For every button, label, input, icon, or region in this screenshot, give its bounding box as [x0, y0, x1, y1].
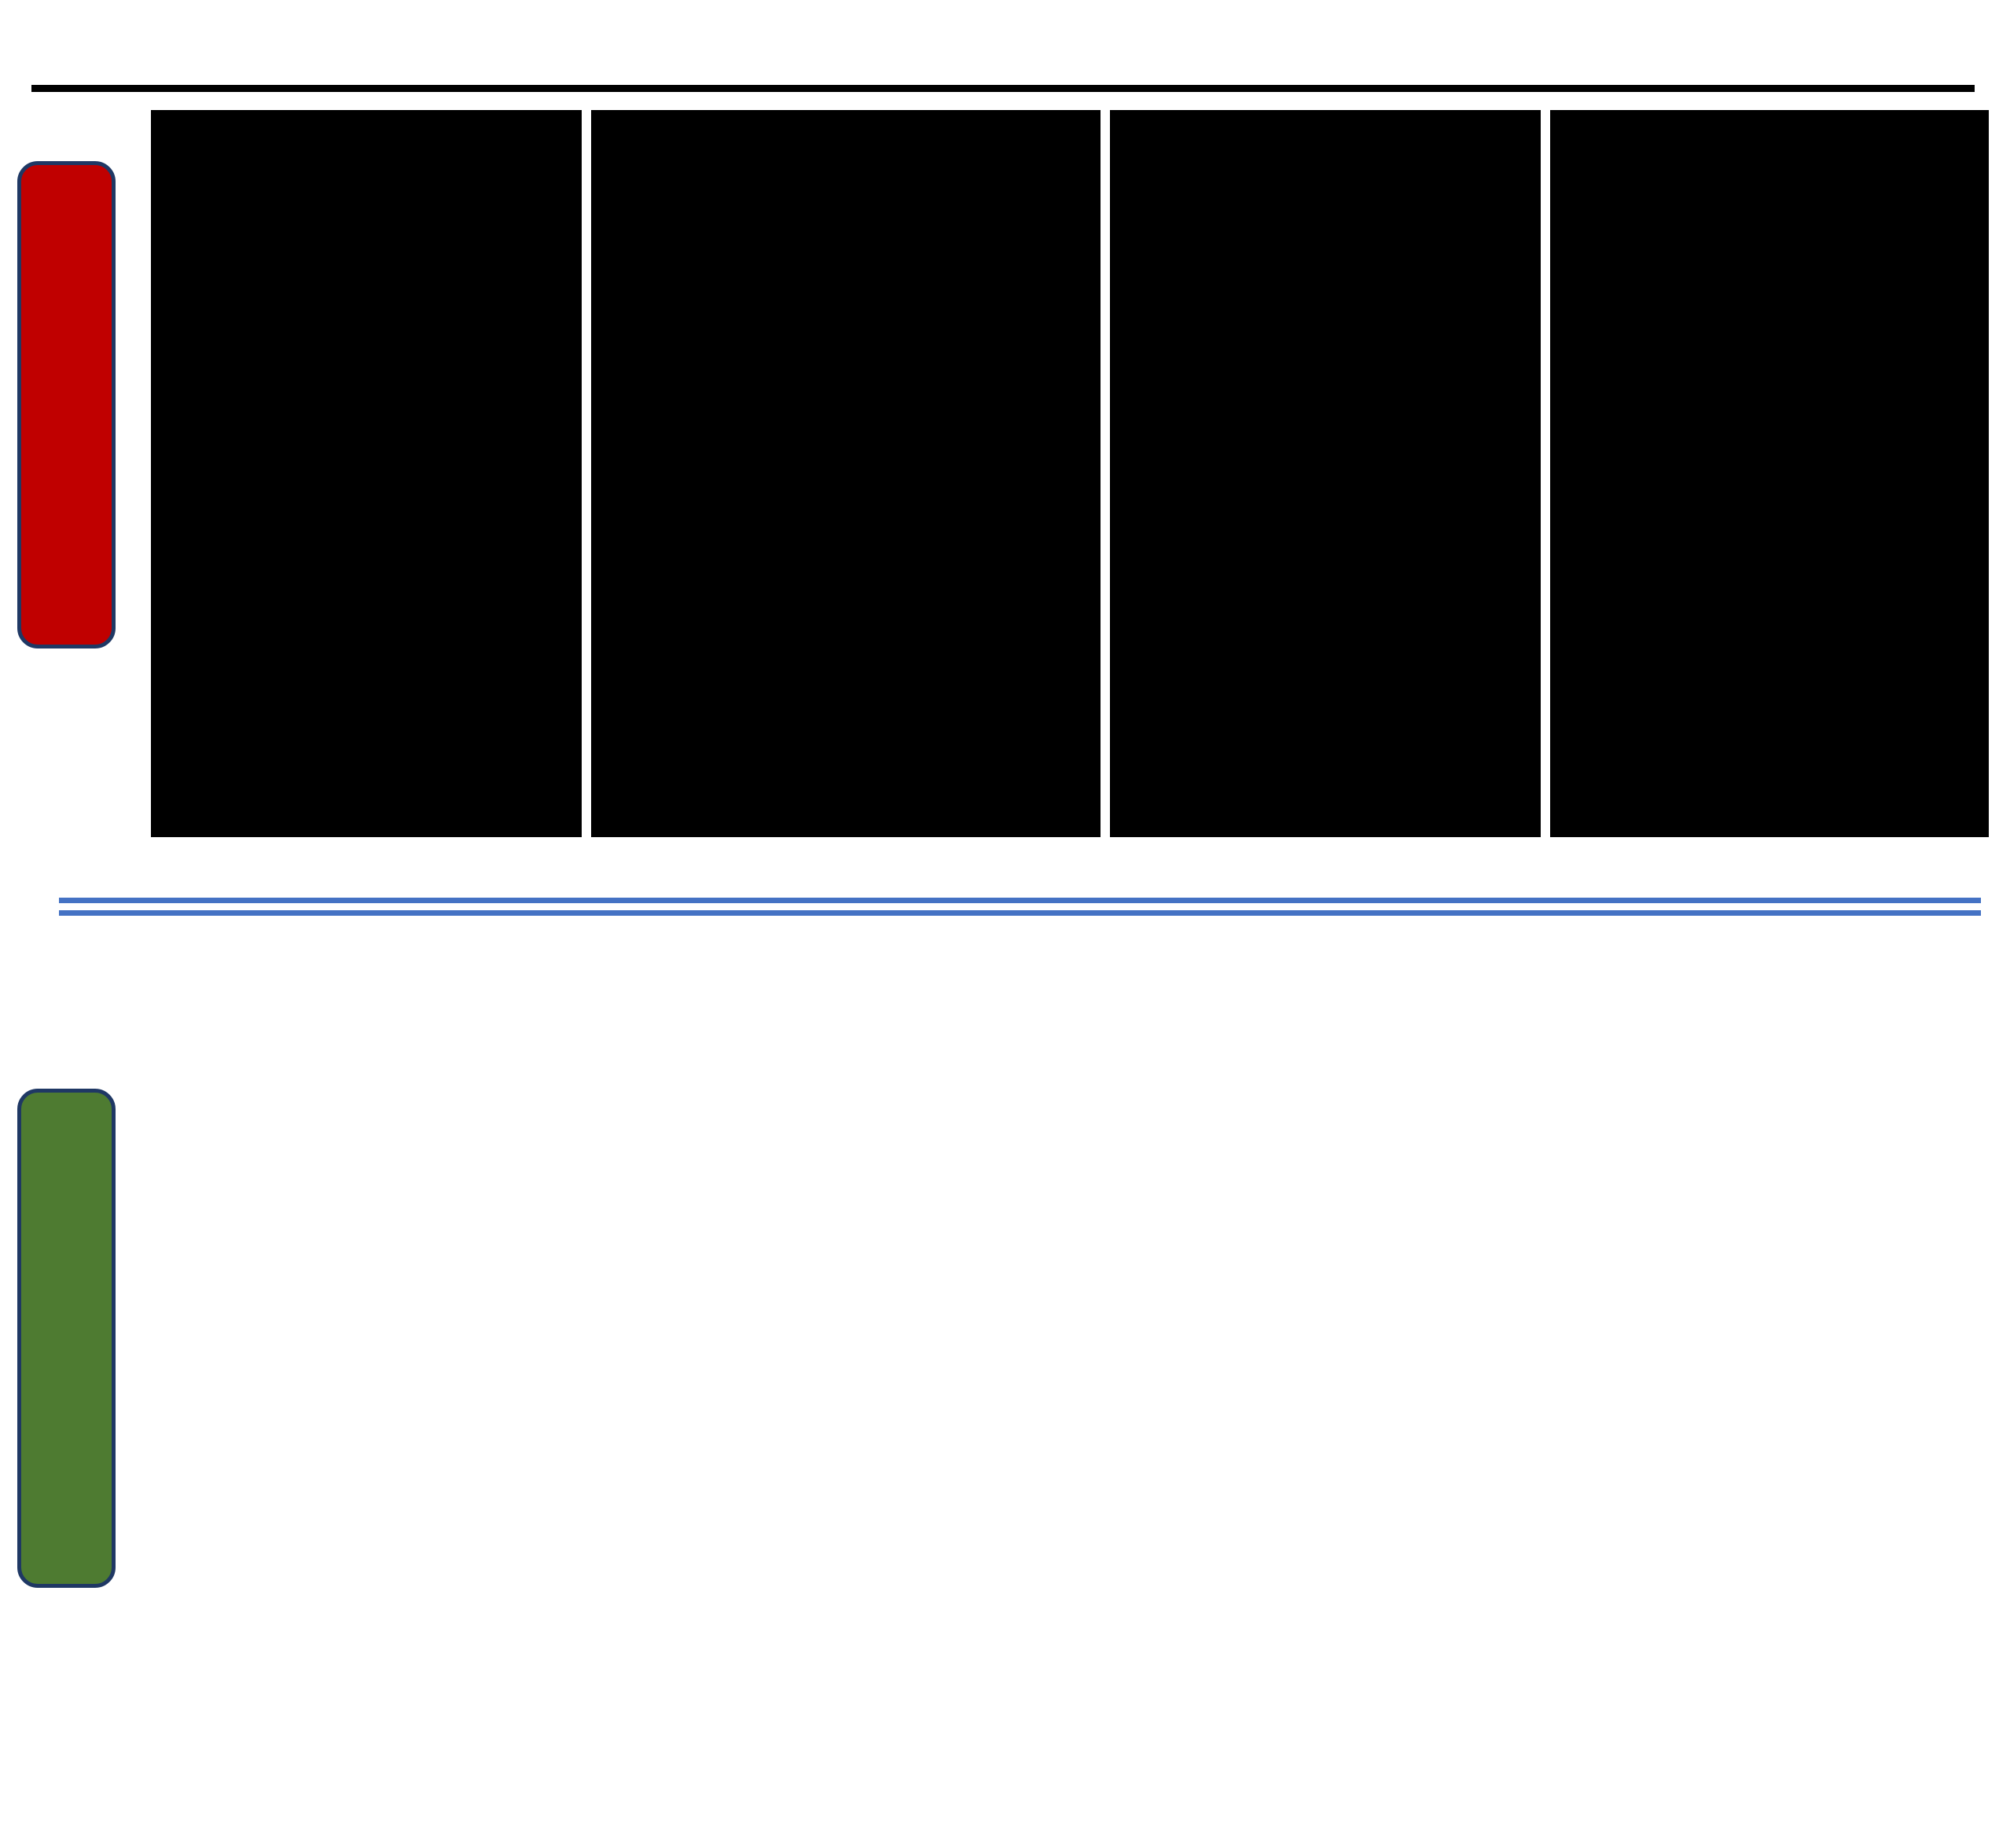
section-divider-line-bottom: [59, 910, 1981, 916]
title-underline: [31, 85, 1975, 92]
mammogram-image-acr-d: [1550, 110, 1989, 837]
ultrasound-image-stack: [138, 955, 625, 1847]
mammogram-image-acr-a: [151, 110, 582, 837]
section-badge-ultrasound: [17, 1089, 116, 1588]
page-title: [31, 17, 1591, 85]
mammogram-image-acr-b: [591, 110, 1101, 837]
boxplot-chart: [621, 935, 1108, 1848]
section-badge-xray: [17, 161, 116, 648]
mammogram-image-acr-c: [1110, 110, 1541, 837]
roc-chart: [1116, 935, 1999, 1848]
section-divider-line-top: [59, 898, 1981, 903]
